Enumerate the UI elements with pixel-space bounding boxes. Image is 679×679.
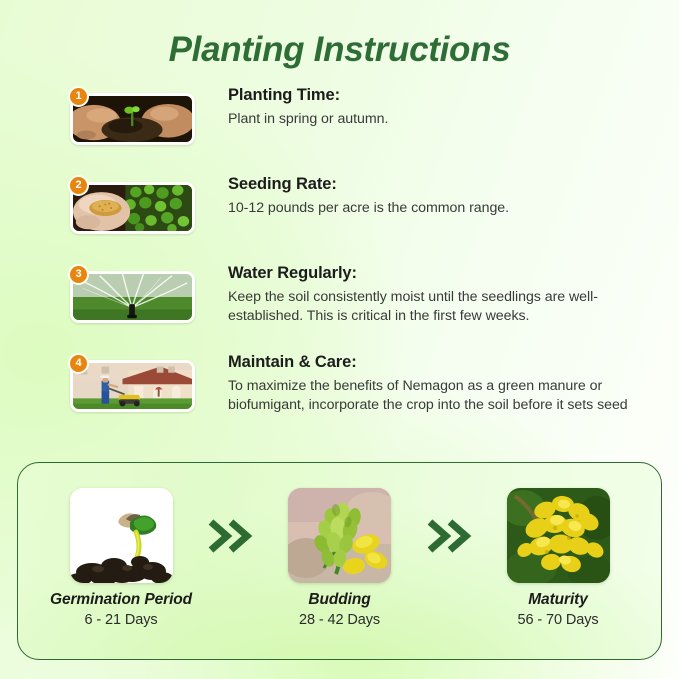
step-heading: Maintain & Care: bbox=[228, 353, 645, 372]
hand-with-seeds-over-sprouts-photo bbox=[70, 182, 195, 234]
list-item: 1 Planting Time: Plant in spring or autu… bbox=[68, 86, 645, 174]
step-body: Keep the soil consistently moist until t… bbox=[228, 288, 645, 325]
stages-row: Germination Period 6 - 21 Days bbox=[18, 463, 661, 659]
step-heading: Planting Time: bbox=[228, 86, 645, 105]
list-item: 2 Seeding Rate: 10-12 pounds per acre is… bbox=[68, 175, 645, 263]
step-number-badge: 1 bbox=[68, 86, 89, 107]
step-number-badge: 3 bbox=[68, 264, 89, 285]
stage-days: 56 - 70 Days bbox=[483, 612, 633, 628]
step-body: Plant in spring or autumn. bbox=[228, 110, 645, 129]
stage-name: Germination Period bbox=[46, 591, 196, 609]
hands-holding-soil-seedling-photo bbox=[70, 93, 195, 145]
list-item: 3 Water Regularly: Keep the soil consist… bbox=[68, 264, 645, 352]
double-chevron-right-icon bbox=[423, 519, 475, 553]
lawn-sprinkler-photo bbox=[70, 271, 195, 323]
step-thumbnail-wrapper: 3 bbox=[68, 264, 197, 323]
page-title: Planting Instructions bbox=[0, 30, 679, 70]
step-text: Water Regularly: Keep the soil consisten… bbox=[228, 264, 645, 325]
stage-budding: Budding 28 - 42 Days bbox=[265, 488, 415, 628]
step-body: 10-12 pounds per acre is the common rang… bbox=[228, 199, 645, 218]
step-heading: Water Regularly: bbox=[228, 264, 645, 283]
list-item: 4 Maintain & Care: To maximize the benef… bbox=[68, 353, 645, 451]
green-flower-buds-photo bbox=[288, 488, 391, 583]
step-thumbnail-wrapper: 4 bbox=[68, 353, 197, 412]
step-thumbnail-wrapper: 1 bbox=[68, 86, 197, 145]
stage-name: Maturity bbox=[483, 591, 633, 609]
step-number-badge: 2 bbox=[68, 175, 89, 196]
sprouting-seed-in-soil-photo bbox=[70, 488, 173, 583]
yellow-canola-flowers-photo bbox=[507, 488, 610, 583]
double-chevron-right-icon bbox=[204, 519, 256, 553]
step-text: Seeding Rate: 10-12 pounds per acre is t… bbox=[228, 175, 645, 218]
step-number-badge: 4 bbox=[68, 353, 89, 374]
stage-days: 28 - 42 Days bbox=[265, 612, 415, 628]
planting-instructions-infographic: Planting Instructions bbox=[0, 0, 679, 679]
stage-name: Budding bbox=[265, 591, 415, 609]
stage-maturity: Maturity 56 - 70 Days bbox=[483, 488, 633, 628]
step-text: Maintain & Care: To maximize the benefit… bbox=[228, 353, 645, 414]
person-mowing-lawn-photo bbox=[70, 360, 195, 412]
step-text: Planting Time: Plant in spring or autumn… bbox=[228, 86, 645, 129]
step-heading: Seeding Rate: bbox=[228, 175, 645, 194]
stage-germination: Germination Period 6 - 21 Days bbox=[46, 488, 196, 628]
growth-timeline-panel: Germination Period 6 - 21 Days bbox=[17, 462, 662, 660]
step-body: To maximize the benefits of Nemagon as a… bbox=[228, 377, 645, 414]
step-thumbnail-wrapper: 2 bbox=[68, 175, 197, 234]
stage-days: 6 - 21 Days bbox=[46, 612, 196, 628]
